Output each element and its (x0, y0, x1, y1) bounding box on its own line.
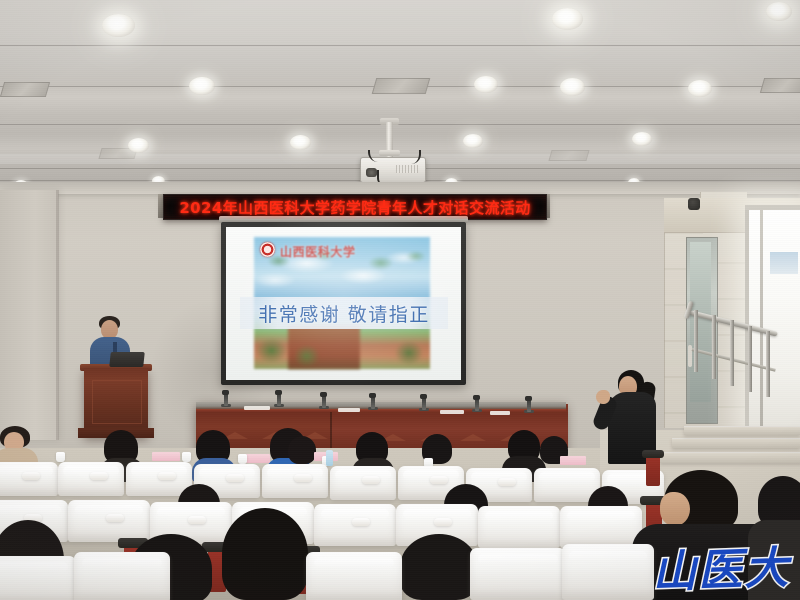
table-document (244, 406, 270, 410)
window-frame (745, 205, 749, 430)
photo-scene: 2024年山西医科大学药学院青年人才对话交流活动 山西医科大学 非常感谢 敬请指… (0, 0, 800, 600)
paper-cup (56, 452, 65, 462)
ceiling-light (474, 76, 498, 93)
projector-lens-icon (366, 168, 377, 177)
ceiling-vent (548, 150, 589, 161)
name-card (152, 452, 180, 461)
railing-post (730, 320, 734, 386)
ceiling-light (688, 80, 712, 97)
window (745, 205, 800, 430)
microphone-head (369, 393, 376, 398)
audience-chair (560, 506, 642, 548)
ceiling-light (102, 14, 135, 37)
table-document (440, 410, 464, 414)
ceiling-vent (372, 78, 431, 94)
stair-step (672, 438, 800, 448)
ceiling-vent (760, 78, 800, 93)
microphone-head (320, 392, 327, 397)
ceiling-light (290, 135, 311, 150)
ceiling-light (189, 77, 215, 95)
microphone-head (222, 390, 229, 395)
slide-trees (254, 323, 430, 369)
paper-cup (182, 452, 191, 462)
paper-cup (238, 454, 247, 464)
ceiling-light (128, 138, 149, 153)
questioner-hand (596, 390, 610, 404)
railing-post (748, 326, 752, 392)
projection-screen: 山西医科大学 非常感谢 敬请指正 (226, 227, 461, 380)
microphone-head (473, 395, 480, 400)
window-reflection (770, 252, 798, 274)
ceiling-light (463, 134, 483, 148)
name-card (560, 456, 586, 465)
audience-chair (74, 552, 170, 600)
table-document (490, 411, 510, 415)
projector-pole (386, 122, 393, 162)
lectern-panel (92, 380, 142, 424)
event-banner-text: 2024年山西医科大学药学院青年人才对话交流活动 (179, 197, 530, 218)
laptop[interactable] (109, 352, 145, 367)
photo-watermark: 山医大 (651, 532, 791, 600)
wall-soffit (0, 182, 800, 194)
audience-chair (470, 548, 566, 600)
railing-post (766, 331, 770, 397)
railing-post (694, 310, 698, 372)
wall-pillar-left (0, 190, 58, 440)
ceiling-vent (0, 82, 50, 97)
wall-light-fixture (688, 198, 700, 210)
ceiling-light (560, 78, 585, 96)
railing-post (712, 315, 716, 379)
window-frame (745, 205, 800, 210)
window-mullion (760, 208, 763, 426)
audience-chair (306, 552, 402, 600)
audience-chair (478, 506, 560, 548)
name-card (244, 454, 270, 463)
microphone-head (420, 394, 427, 399)
event-banner: 2024年山西医科大学药学院青年人才对话交流活动 (163, 194, 547, 220)
audience-chair (0, 556, 76, 600)
slide-title: 非常感谢 敬请指正 (240, 297, 448, 329)
stair-step (660, 452, 800, 463)
ceiling-light (766, 2, 792, 21)
presentation-slide: 山西医科大学 非常感谢 敬请指正 (226, 227, 461, 380)
projector-vent (396, 165, 418, 173)
ceiling-light (632, 132, 652, 146)
water-bottle (326, 450, 333, 466)
slide-logo-text: 山西医科大学 (280, 243, 356, 260)
stair-step (684, 426, 800, 435)
university-seal-icon (260, 242, 275, 257)
seat-armrest (642, 450, 664, 458)
ceiling-light (552, 8, 583, 30)
audience-chair (562, 544, 654, 600)
microphone-head (525, 396, 532, 401)
microphone-head (275, 390, 282, 395)
table-document (338, 408, 360, 412)
